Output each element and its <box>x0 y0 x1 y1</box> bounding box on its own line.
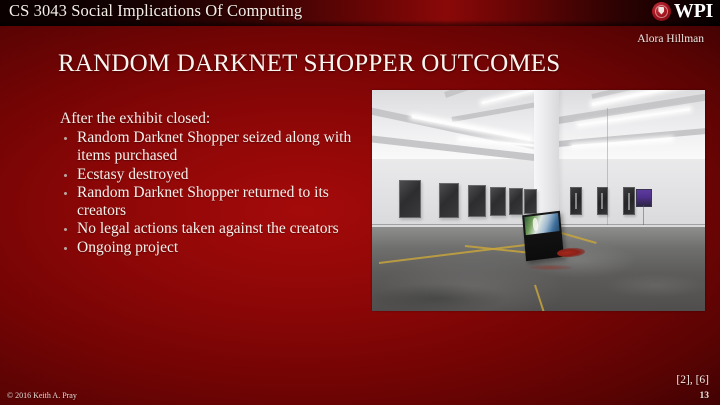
gallery-photo-content <box>372 90 705 311</box>
artwork-frame <box>509 188 524 215</box>
screen-cord <box>643 205 644 225</box>
list-item: No legal actions taken against the creat… <box>60 220 356 238</box>
monitor-screen <box>524 213 559 235</box>
course-title: CS 3043 Social Implications Of Computing <box>9 1 302 21</box>
artwork-frame <box>490 187 506 216</box>
artwork-frame <box>623 187 634 215</box>
author-name: Alora Hillman <box>637 33 704 45</box>
artwork-frame <box>439 183 459 218</box>
slide-canvas: CS 3043 Social Implications Of Computing… <box>0 0 720 405</box>
shield-icon <box>658 7 664 15</box>
header-band: CS 3043 Social Implications Of Computing <box>0 0 720 26</box>
wpi-seal-icon <box>652 2 671 21</box>
artwork-frame <box>597 187 608 214</box>
artwork-frame <box>468 185 486 217</box>
copyright-notice: © 2016 Keith A. Pray <box>7 391 77 400</box>
page-title: RANDOM DARKNET SHOPPER OUTCOMES <box>58 50 560 78</box>
body-content: After the exhibit closed: Random Darknet… <box>60 110 356 257</box>
list-item: Random Darknet Shopper returned to its c… <box>60 184 356 221</box>
artwork-frame <box>524 189 538 214</box>
citation-reference: [2], [6] <box>676 374 709 386</box>
page-number: 13 <box>700 391 710 401</box>
purple-screen <box>636 189 653 208</box>
list-item: Ecstasy destroyed <box>60 166 356 184</box>
list-item: Random Darknet Shopper seized along with… <box>60 129 356 166</box>
artwork-frame <box>399 180 421 218</box>
list-item: Ongoing project <box>60 239 356 257</box>
wpi-logo: WPI <box>652 1 713 21</box>
bullet-list: Random Darknet Shopper seized along with… <box>60 129 356 257</box>
wpi-wordmark: WPI <box>674 1 713 21</box>
artwork-frame <box>570 187 582 214</box>
gallery-photo <box>372 90 705 311</box>
intro-text: After the exhibit closed: <box>60 110 356 128</box>
red-spill-trail <box>529 265 572 270</box>
